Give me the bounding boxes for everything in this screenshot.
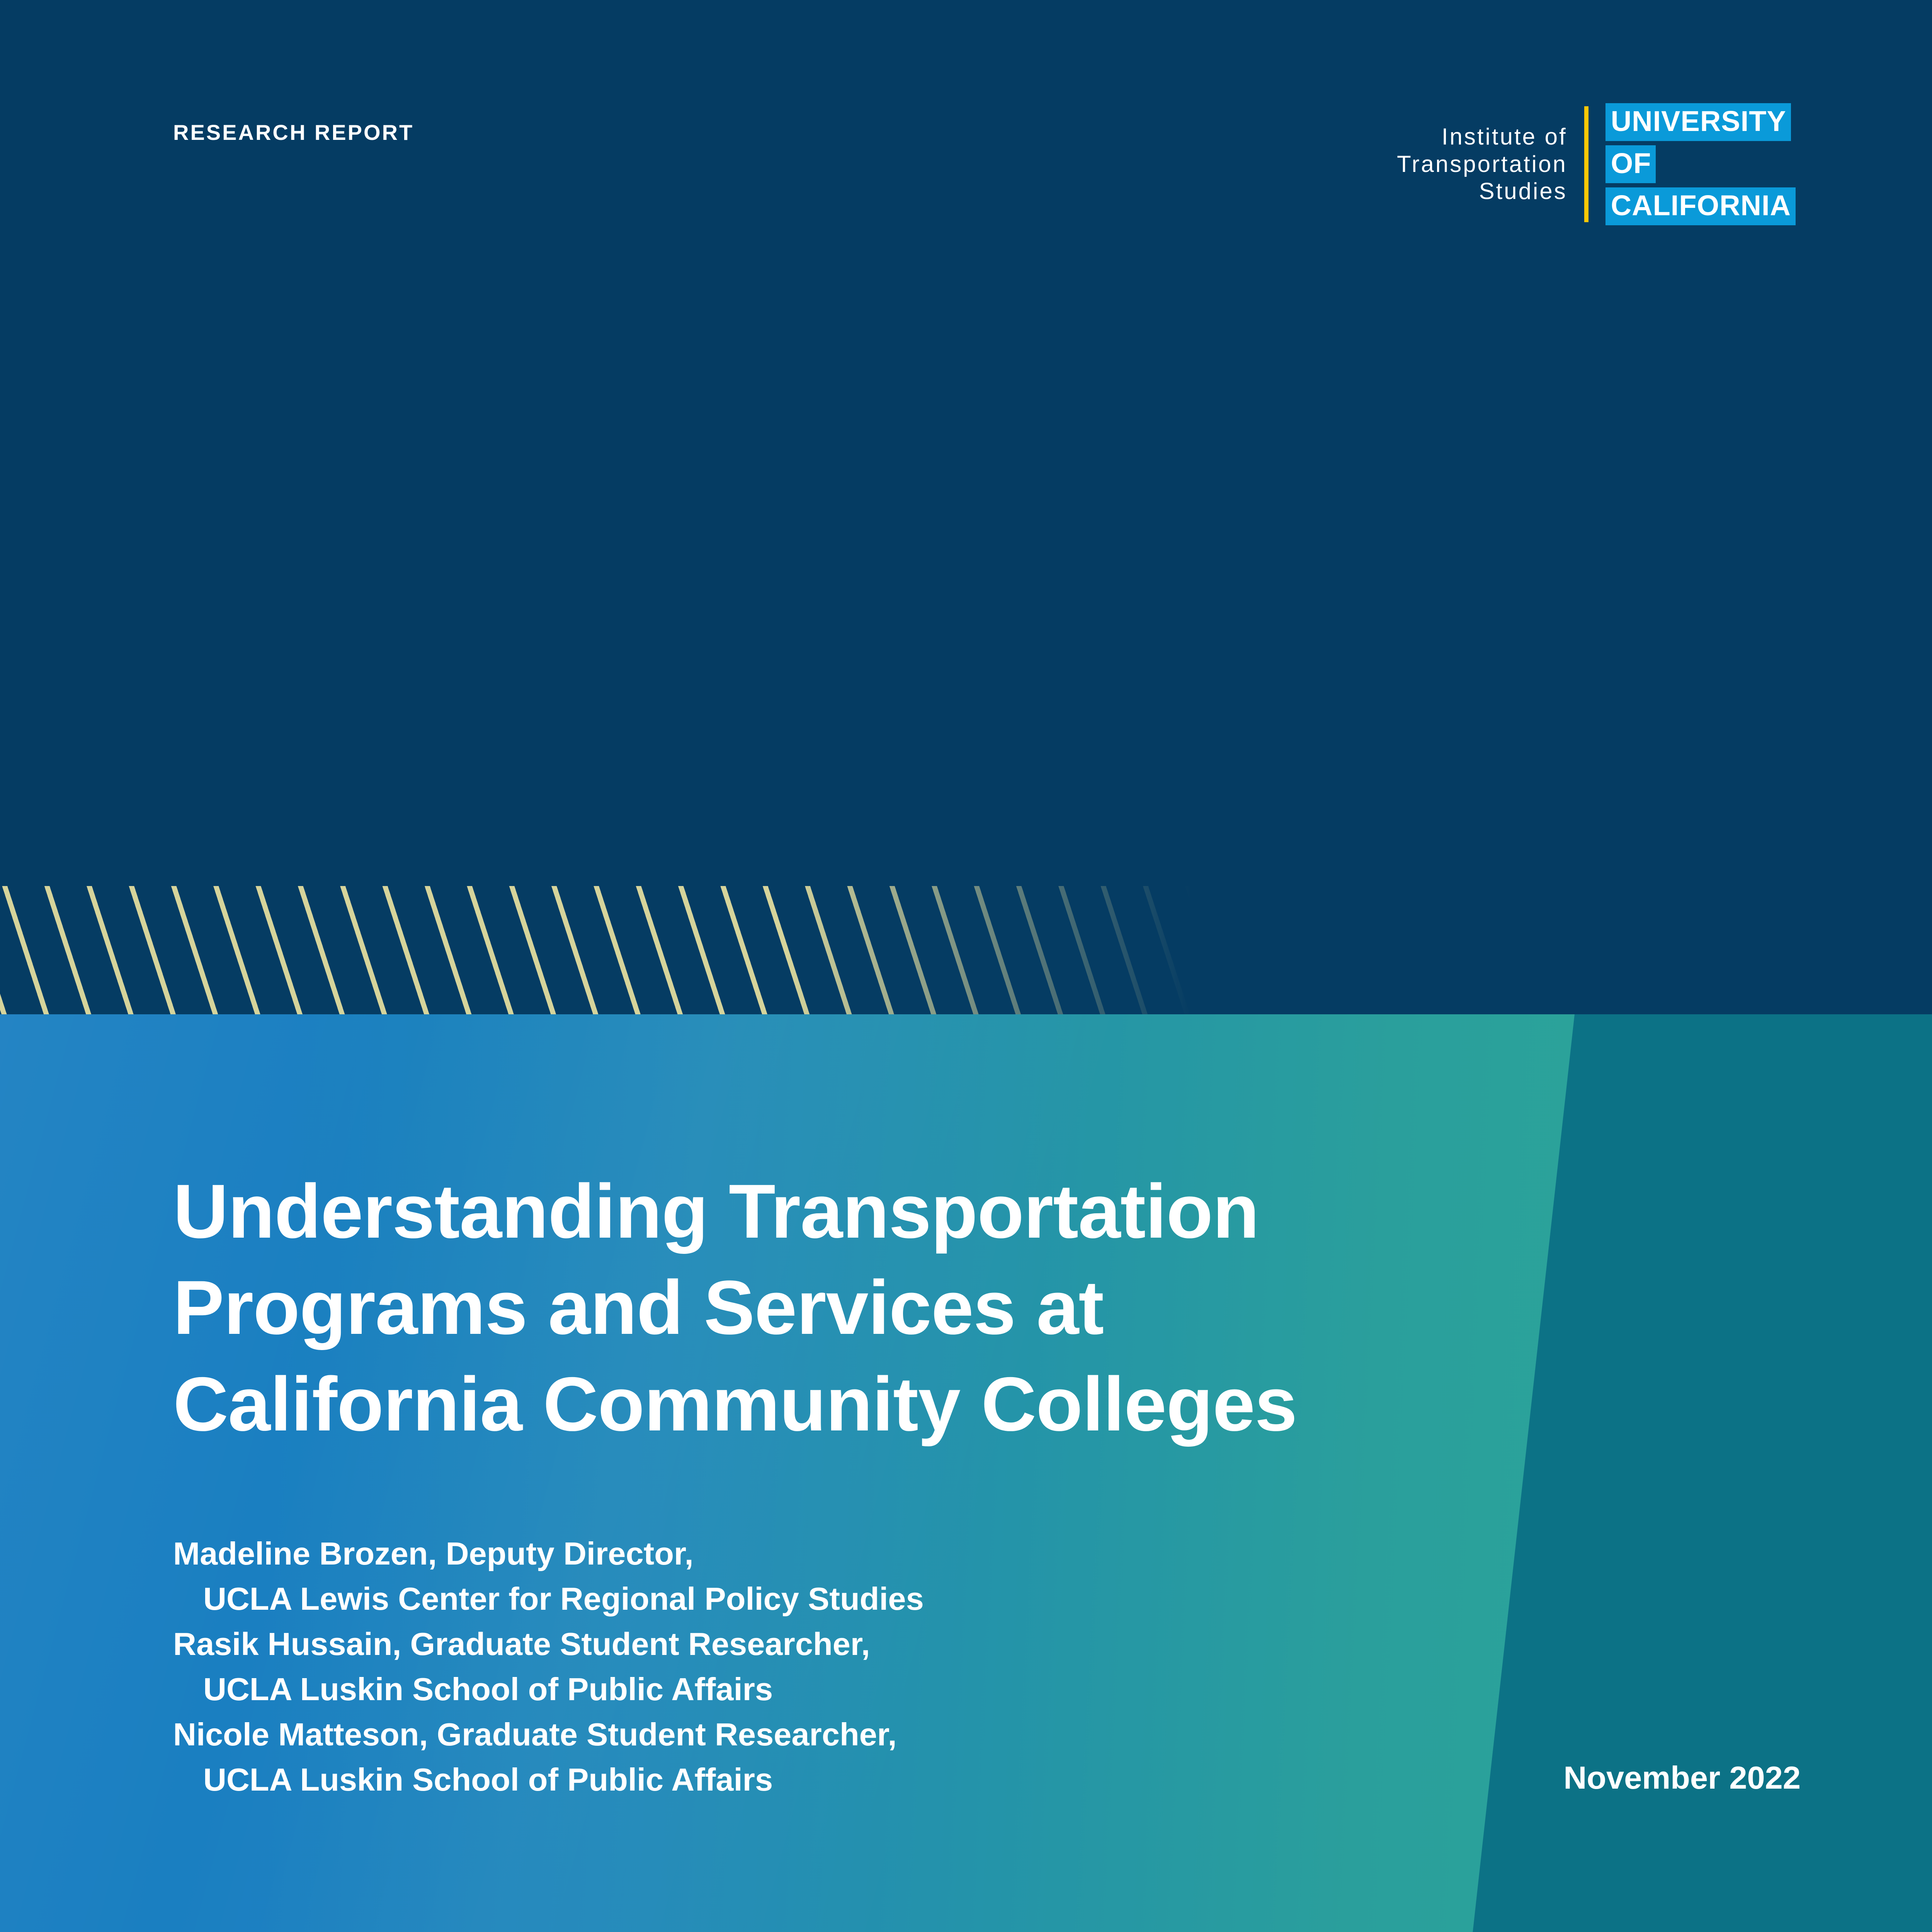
author-name-3: Nicole Matteson, Graduate Student Resear…: [173, 1712, 924, 1757]
gold-divider-rule: [1584, 106, 1588, 222]
title-line-1: Understanding Transportation: [173, 1163, 1294, 1259]
title-line-3: California Community Colleges: [173, 1356, 1294, 1452]
institute-line-3: Studies: [1479, 179, 1567, 204]
publication-date: November 2022: [1563, 1759, 1801, 1796]
uc-block-of: OF: [1605, 145, 1656, 183]
author-affiliation-3: UCLA Luskin School of Public Affairs: [173, 1757, 924, 1802]
institute-wordmark: Institute of Transportation Studies: [1397, 106, 1584, 222]
uc-block-california: CALIFORNIA: [1605, 187, 1796, 225]
author-affiliation-1: UCLA Lewis Center for Regional Policy St…: [173, 1576, 924, 1621]
its-uc-logo: Institute of Transportation Studies UNIV…: [1397, 106, 1796, 222]
title-line-2: Programs and Services at: [173, 1259, 1294, 1355]
page-title: Understanding Transportation Programs an…: [173, 1163, 1294, 1452]
institute-line-1: Institute of: [1442, 124, 1567, 150]
report-type-label: RESEARCH REPORT: [173, 120, 414, 145]
institute-line-2: Transportation: [1397, 152, 1567, 177]
uc-block-university: UNIVERSITY: [1605, 103, 1791, 141]
author-list: Madeline Brozen, Deputy Director, UCLA L…: [173, 1531, 924, 1802]
author-affiliation-2: UCLA Luskin School of Public Affairs: [173, 1667, 924, 1712]
author-name-1: Madeline Brozen, Deputy Director,: [173, 1531, 924, 1576]
author-name-2: Rasik Hussain, Graduate Student Research…: [173, 1621, 924, 1667]
diagonal-stripe-pattern-top: [0, 886, 1229, 1015]
university-of-california-wordmark: UNIVERSITY OF CALIFORNIA: [1588, 106, 1796, 222]
report-cover-page: RESEARCH REPORT Institute of Transportat…: [0, 0, 1932, 1932]
